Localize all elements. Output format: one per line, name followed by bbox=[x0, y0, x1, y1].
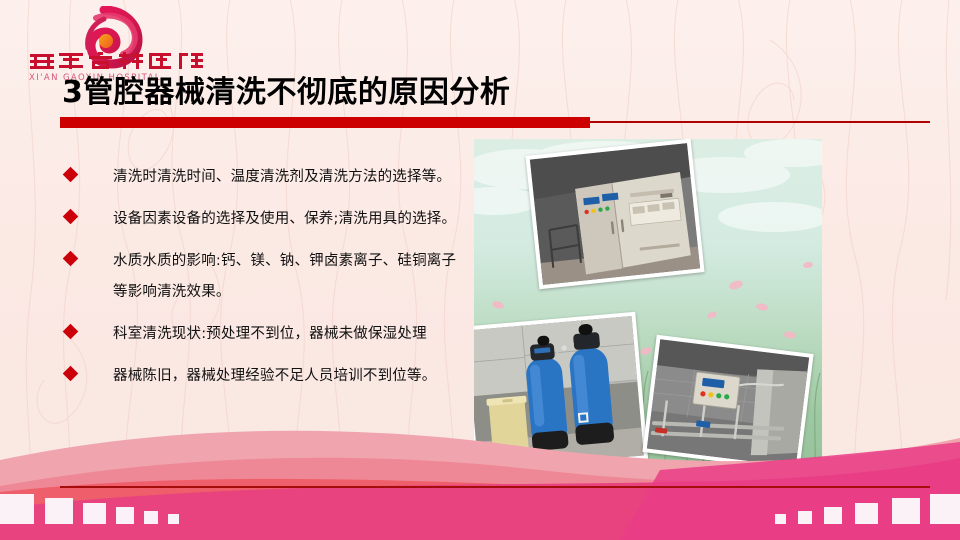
list-item-label: 清洗时清洗时间、温度清洗剂及清洗方法的选择等。 bbox=[113, 162, 460, 193]
list-item: 设备因素设备的选择及使用、保养;清洗用具的选择。 bbox=[60, 204, 460, 235]
hospital-logo: XI'AN GAOXIN HOSPITAL bbox=[26, 6, 206, 84]
title-underline-thick bbox=[60, 117, 590, 128]
page-title: 3管腔器械清洗不彻底的原因分析 bbox=[62, 76, 510, 110]
list-item-label: 水质水质的影响:钙、镁、钠、钾卤素离子、硅铜离子等影响清洗效果。 bbox=[113, 246, 460, 308]
photo-control-cabinet bbox=[525, 139, 704, 289]
footer-divider-line bbox=[60, 486, 930, 488]
footer-square bbox=[116, 507, 134, 524]
footer-square bbox=[930, 494, 960, 524]
diamond-bullet-icon bbox=[63, 251, 79, 267]
list-item: 科室清洗现状:预处理不到位，器械未做保湿处理 bbox=[60, 319, 460, 350]
list-item-label: 设备因素设备的选择及使用、保养;清洗用具的选择。 bbox=[113, 204, 460, 235]
footer-wave-decoration bbox=[0, 420, 960, 540]
presentation-slide: XI'AN GAOXIN HOSPITAL 3管腔器械清洗不彻底的原因分析 清洗… bbox=[0, 0, 960, 540]
footer-square bbox=[83, 503, 106, 524]
list-item: 水质水质的影响:钙、镁、钠、钾卤素离子、硅铜离子等影响清洗效果。 bbox=[60, 246, 460, 308]
diamond-bullet-icon bbox=[63, 324, 79, 340]
diamond-bullet-icon bbox=[63, 366, 79, 382]
list-item: 清洗时清洗时间、温度清洗剂及清洗方法的选择等。 bbox=[60, 162, 460, 193]
list-item-label: 器械陈旧，器械处理经验不足人员培训不到位等。 bbox=[113, 361, 460, 392]
diamond-bullet-icon bbox=[63, 209, 79, 225]
footer-square bbox=[775, 514, 786, 524]
footer-square bbox=[824, 507, 842, 524]
bullet-list: 清洗时清洗时间、温度清洗剂及清洗方法的选择等。 设备因素设备的选择及使用、保养;… bbox=[60, 162, 460, 403]
footer-squares-right bbox=[760, 480, 960, 540]
diamond-bullet-icon bbox=[63, 167, 79, 183]
list-item-label: 科室清洗现状:预处理不到位，器械未做保湿处理 bbox=[113, 319, 460, 350]
footer-square bbox=[798, 511, 812, 524]
control-cabinet-image bbox=[530, 143, 700, 285]
footer-square bbox=[0, 494, 34, 524]
list-item: 器械陈旧，器械处理经验不足人员培训不到位等。 bbox=[60, 361, 460, 392]
footer-square bbox=[144, 511, 158, 524]
footer-square bbox=[855, 503, 878, 524]
footer-square bbox=[45, 498, 73, 524]
footer-square bbox=[892, 498, 920, 524]
hospital-logo-mark: XI'AN GAOXIN HOSPITAL bbox=[26, 6, 206, 86]
footer-squares-left bbox=[0, 480, 200, 540]
footer-square bbox=[168, 514, 179, 524]
